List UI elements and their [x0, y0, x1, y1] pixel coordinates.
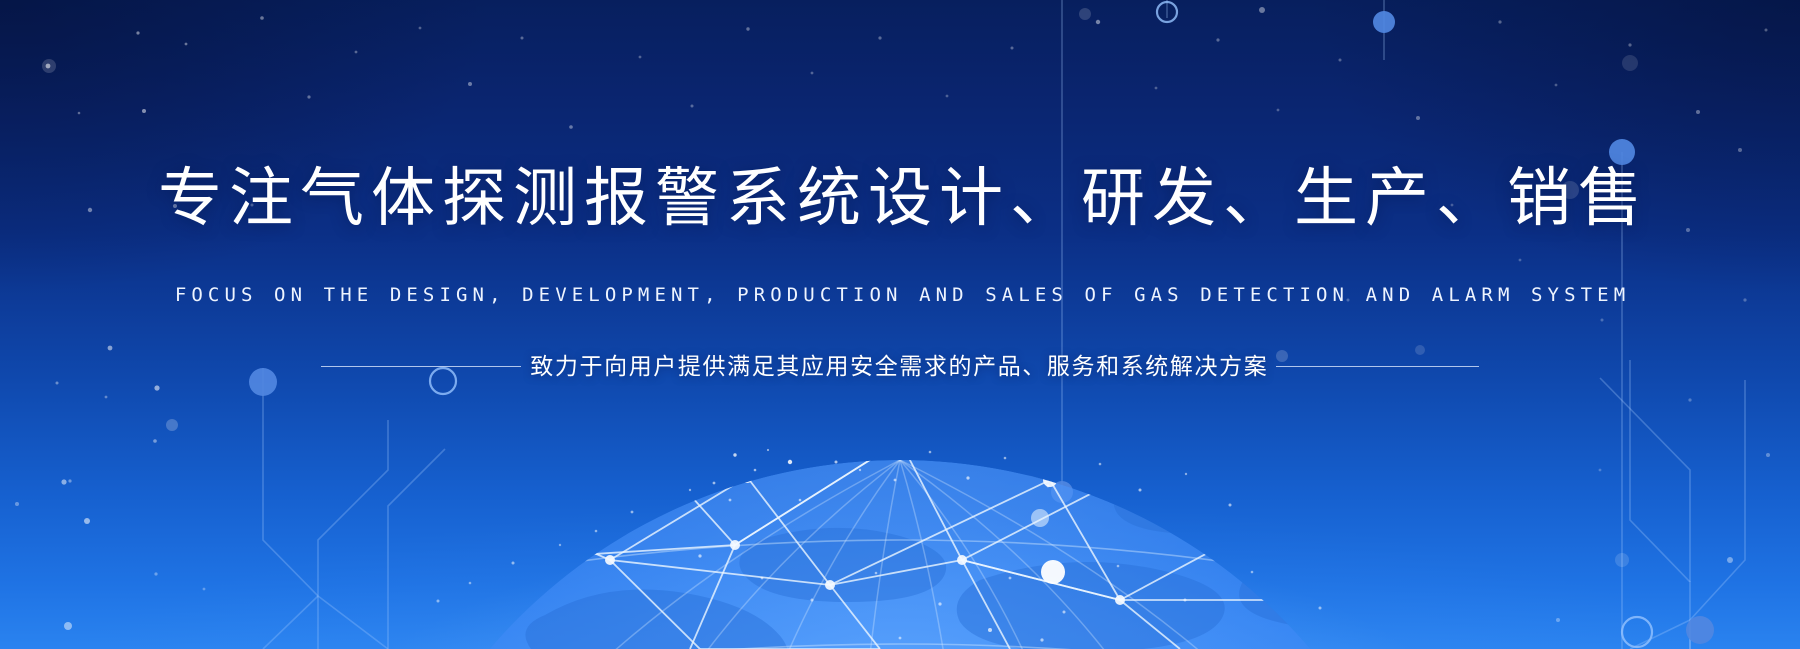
banner-content: 专注气体探测报警系统设计、研发、生产、销售 FOCUS ON THE DESIG…	[0, 0, 1800, 649]
hero-banner: 专注气体探测报警系统设计、研发、生产、销售 FOCUS ON THE DESIG…	[0, 0, 1800, 649]
tagline-rule-left	[321, 366, 521, 367]
banner-headline: 专注气体探测报警系统设计、研发、生产、销售	[0, 166, 1800, 230]
banner-tagline-row: 致力于向用户提供满足其应用安全需求的产品、服务和系统解决方案	[0, 355, 1800, 378]
tagline-rule-right	[1276, 366, 1479, 367]
banner-subheadline: FOCUS ON THE DESIGN, DEVELOPMENT, PRODUC…	[0, 286, 1800, 305]
banner-tagline: 致力于向用户提供满足其应用安全需求的产品、服务和系统解决方案	[521, 355, 1277, 378]
